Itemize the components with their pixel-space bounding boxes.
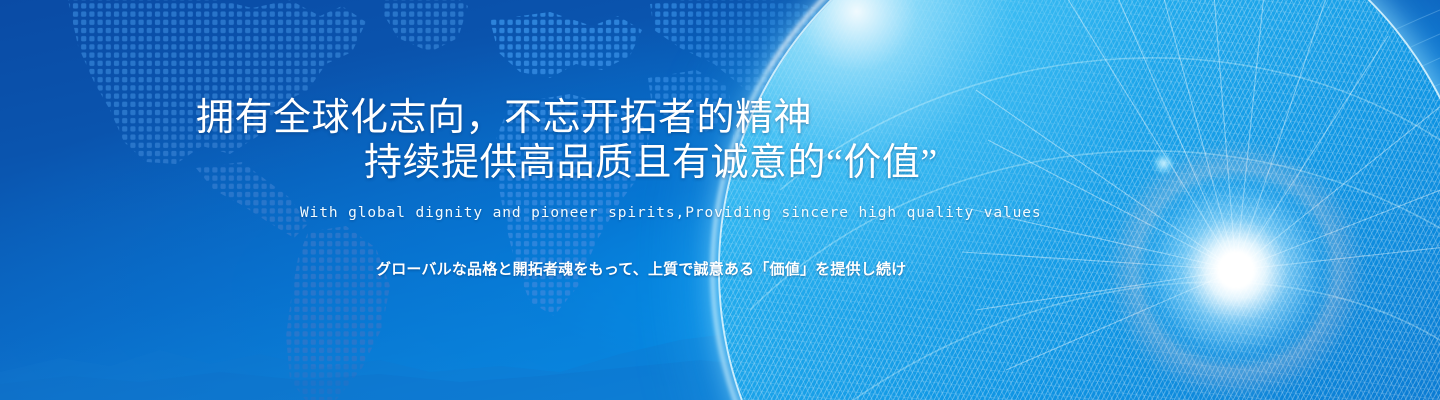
sun-halo-outer [1118, 152, 1354, 388]
dotted-world-map [0, 0, 990, 400]
sun-core [1141, 175, 1331, 365]
light-streaks [920, 0, 1440, 400]
sun-halo-inner [1132, 166, 1340, 374]
hero-banner: 拥有全球化志向，不忘开拓者的精神 持续提供高品质且有诚意的“价值” With g… [0, 0, 1440, 400]
sun-rays [936, 0, 1440, 400]
light-glow-dot [1152, 152, 1175, 175]
